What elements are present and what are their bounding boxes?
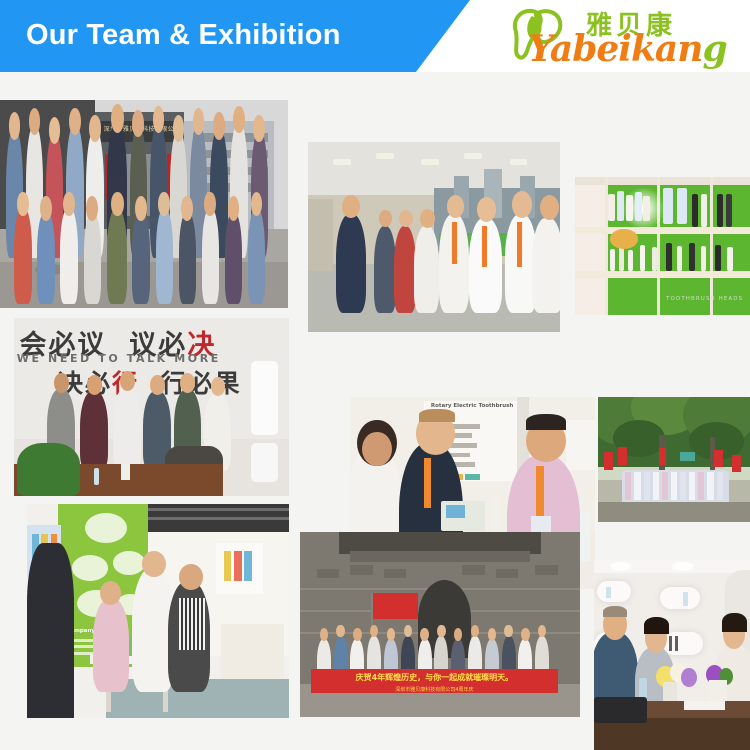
poster-title: Rotary Electric Toothbrush	[431, 403, 513, 409]
photo-scene: Company profile	[27, 504, 289, 718]
logo-latin-part1: Yabeikan	[528, 28, 702, 70]
gallery-photo-factory-tour[interactable]	[308, 142, 560, 332]
photo-scene	[598, 397, 750, 522]
brand-logo: 雅贝康 Yabeikang	[500, 2, 740, 70]
photo-gallery: 深圳市雅贝康科技有限公司	[0, 72, 750, 750]
gallery-photo-anniversary[interactable]: 庆贺4年辉煌历史，与你一起成就璀璨明天。 深圳市雅贝康科技有限公司4周年庆	[300, 532, 580, 717]
anniversary-banner-text: 庆贺4年辉煌历史，与你一起成就璀璨明天。	[317, 672, 552, 683]
photo-scene	[308, 142, 560, 332]
logo-latin-part2: g	[702, 28, 726, 70]
page-title: Our Team & Exhibition	[26, 0, 341, 72]
logo-latin-name: Yabeikang	[528, 28, 727, 70]
wall-slogan-line2: WE NEED TO TALK MORE	[17, 352, 221, 365]
photo-scene	[594, 560, 750, 750]
gallery-photo-product-booth[interactable]: TOOTHBRUSH HEADS	[575, 177, 750, 315]
page-header: Our Team & Exhibition 雅贝康 Yabeikang	[0, 0, 750, 72]
gallery-photo-exhibition-booth[interactable]: Company profile	[27, 504, 289, 718]
gallery-photo-team-building[interactable]	[598, 397, 750, 522]
photo-scene: 会必议 议必决 WE NEED TO TALK MORE 决必行 行必果	[14, 318, 289, 496]
photo-scene: 庆贺4年辉煌历史，与你一起成就璀璨明天。 深圳市雅贝康科技有限公司4周年庆	[300, 532, 580, 717]
gallery-photo-showroom-meeting[interactable]	[594, 560, 750, 750]
anniversary-banner-subtext: 深圳市雅贝康科技有限公司4周年庆	[356, 686, 513, 693]
gallery-photo-meeting-room[interactable]: 会必议 议必决 WE NEED TO TALK MORE 决必行 行必果	[14, 318, 289, 496]
photo-scene: TOOTHBRUSH HEADS	[575, 177, 750, 315]
shelf-label: TOOTHBRUSH HEADS	[666, 296, 743, 302]
photo-scene: 深圳市雅贝康科技有限公司	[0, 100, 288, 308]
gallery-photo-factory-group[interactable]: 深圳市雅贝康科技有限公司	[0, 100, 288, 308]
